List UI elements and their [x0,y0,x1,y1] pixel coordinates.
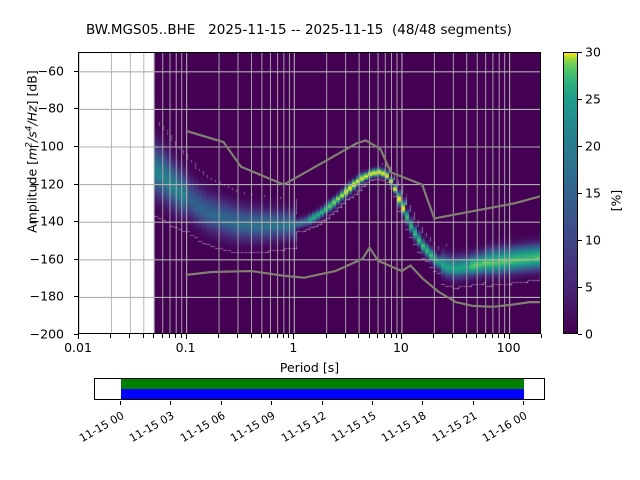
timeline-tick [473,401,474,405]
x-axis-tick [377,334,378,338]
colorbar-tick-label: 0 [585,327,593,342]
x-axis-tick [162,334,163,338]
y-axis-tick [74,108,78,109]
x-axis-tick [504,334,505,338]
colorbar-tick-label: 30 [585,45,601,60]
timeline-tick-label: 11-15 06 [177,409,227,445]
timeline-data-coverage-bar [121,379,524,389]
x-axis-tick [498,334,499,338]
timeline-tick [120,401,121,405]
colorbar-label: [%] [609,151,624,251]
x-axis-tick [153,334,154,338]
timeline-tick-label: 11-15 03 [127,409,177,445]
timeline-strip[interactable] [94,378,545,400]
x-axis-tick-label: 10 [393,340,409,355]
timeline-tick-label: 11-16 00 [480,409,530,445]
x-axis-tick [391,334,392,338]
y-axis-tick-label: −80 [38,101,64,116]
figure-title: BW.MGS05..BHE 2025-11-15 -- 2025-11-15 (… [0,22,598,38]
x-axis-tick [175,334,176,338]
y-axis-tick-label: −180 [30,289,64,304]
x-axis-tick [433,334,434,338]
x-axis-tick [369,334,370,338]
x-axis-tick [261,334,262,338]
x-axis-tick [345,334,346,338]
x-axis-tick [181,334,182,338]
x-axis-tick [269,334,270,338]
x-axis-tick [143,334,144,338]
x-axis-tick [110,334,111,338]
x-axis-tick [288,334,289,338]
x-axis-tick [293,334,294,339]
colorbar-tick [578,99,582,100]
x-axis-tick [476,334,477,338]
y-axis-tick [74,334,78,335]
x-axis-tick [396,334,397,338]
y-axis-label: Amplitude [m2/s4/Hz] [dB] [24,22,39,282]
timeline-tick [221,401,222,405]
x-axis-tick [466,334,467,338]
timeline-tick [170,401,171,405]
timeline-tick-label: 11-15 12 [278,409,328,445]
timeline-tick-label: 11-15 00 [77,409,127,445]
colorbar-tick [578,146,582,147]
x-axis-tick [186,334,187,339]
colorbar-tick-label: 5 [585,280,593,295]
x-axis-tick [169,334,170,338]
x-axis-tick-label: 0.1 [176,340,196,355]
x-axis-tick [384,334,385,338]
colorbar-tick [578,193,582,194]
x-axis-tick [358,334,359,338]
colorbar-tick [578,240,582,241]
timeline-tick-label: 11-15 18 [379,409,429,445]
timeline-tick [422,401,423,405]
x-axis-tick [78,334,79,339]
x-axis-tick [509,334,510,339]
y-axis-tick [74,259,78,260]
ppsd-figure: BW.MGS05..BHE 2025-11-15 -- 2025-11-15 (… [0,0,640,480]
y-axis-tick [74,146,78,147]
colorbar-tick [578,334,582,335]
colorbar [563,52,578,334]
y-axis-tick [74,184,78,185]
plot-clip [79,53,540,333]
timeline-segments-bar [121,389,524,399]
timeline-tick [523,401,524,405]
y-axis-tick [74,221,78,222]
colorbar-tick [578,52,582,53]
x-axis-tick [283,334,284,338]
x-axis-tick [492,334,493,338]
x-axis-tick-label: 1 [289,340,297,355]
x-axis-tick [401,334,402,339]
colorbar-tick-label: 20 [585,139,601,154]
noise-model-curves [79,53,540,333]
x-axis-tick [326,334,327,338]
x-axis-tick-label: 0.01 [64,340,92,355]
timeline-tick-label: 11-15 15 [329,409,379,445]
y-axis-tick-label: −60 [38,63,64,78]
x-axis-tick [129,334,130,338]
timeline-tick [322,401,323,405]
timeline-tick-label: 11-15 21 [429,409,479,445]
ppsd-plot-area[interactable] [78,52,541,334]
colorbar-tick-label: 15 [585,186,601,201]
timeline-tick [372,401,373,405]
x-axis-label: Period [s] [78,360,541,375]
x-axis-tick [485,334,486,338]
colorbar-tick-label: 10 [585,233,601,248]
y-axis-tick [74,71,78,72]
x-axis-tick [237,334,238,338]
x-axis-tick [452,334,453,338]
x-axis-tick-label: 100 [497,340,521,355]
colorbar-tick-label: 25 [585,92,601,107]
x-axis-tick [541,334,542,338]
timeline-tick-label: 11-15 09 [228,409,278,445]
y-axis-label-text: Amplitude [ [25,160,40,233]
x-axis-tick [251,334,252,338]
x-axis-tick [277,334,278,338]
x-axis-tick [218,334,219,338]
y-axis-tick-label: −200 [30,327,64,342]
timeline-tick [271,401,272,405]
colorbar-tick [578,287,582,288]
y-axis-tick [74,296,78,297]
